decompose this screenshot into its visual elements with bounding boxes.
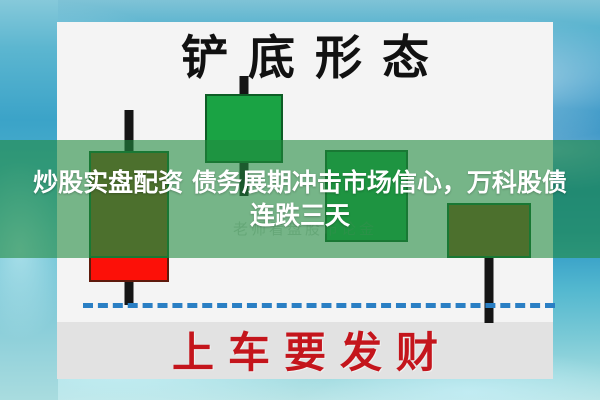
headline-text: 铲底形态 — [57, 22, 553, 84]
overlay-caption-line-2: 连跌三天 — [250, 199, 350, 233]
footer-slogan: 上车要发财 — [57, 321, 553, 378]
screenshot-stage: 老师看盘股市论金 铲底形态 上车要发财 炒股实盘配资 债务展期冲击市场信心，万科… — [0, 0, 600, 400]
overlay-caption-line-1: 炒股实盘配资 债务展期冲击市场信心，万科股债 — [33, 166, 567, 200]
candle-1-body-lower — [89, 258, 169, 282]
support-line — [83, 303, 555, 308]
overlay-caption: 炒股实盘配资 债务展期冲击市场信心，万科股债 连跌三天 — [0, 140, 600, 258]
